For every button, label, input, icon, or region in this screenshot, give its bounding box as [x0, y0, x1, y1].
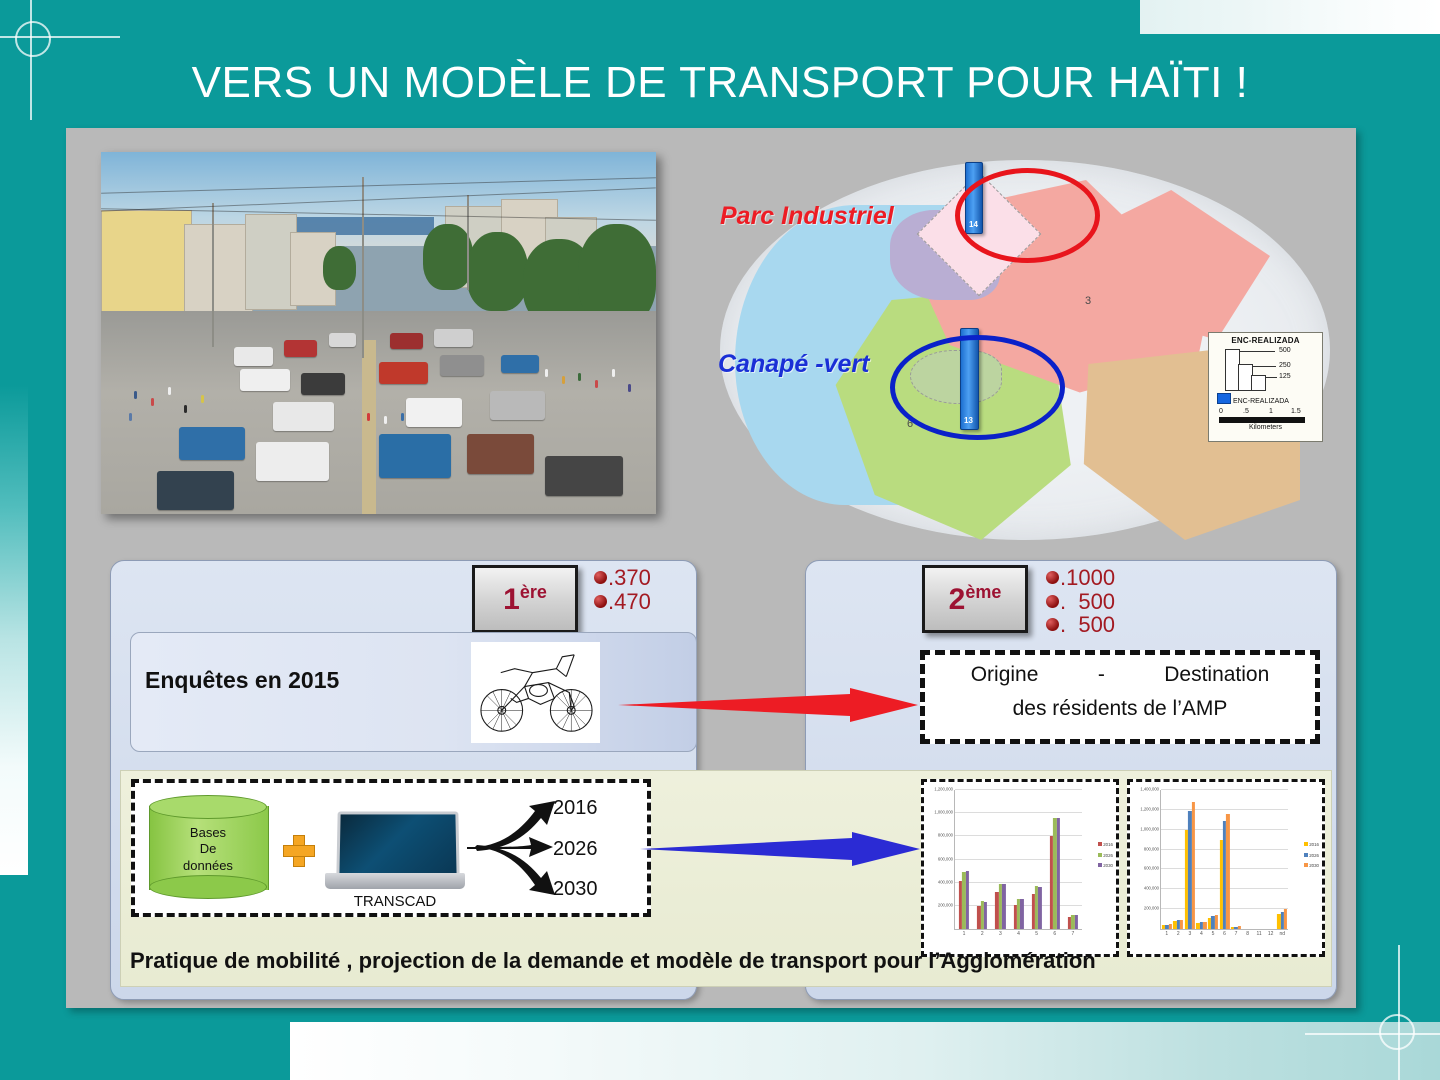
phase-2-bullet-1: .1000 — [1046, 566, 1115, 590]
y-axis-tick-label: 1,400,000 — [1140, 787, 1159, 792]
photo-pedestrian — [184, 405, 187, 413]
bar-group — [977, 790, 987, 929]
origin-destination-box: Origine - Destination des résidents de l… — [920, 650, 1320, 744]
photo-vehicle — [434, 329, 473, 347]
legend-swatch — [1304, 853, 1308, 857]
y-axis-tick-label: 200,000 — [938, 902, 953, 907]
bar — [1203, 922, 1206, 929]
red-arrow-icon — [618, 688, 918, 722]
chart-1-plot: 200,000400,000600,000800,0001,000,0001,2… — [954, 790, 1082, 930]
legend-label: 2016 — [1103, 842, 1113, 847]
od-origin-label: Origine — [971, 663, 1039, 687]
bar-group — [1173, 790, 1183, 929]
bar-group — [959, 790, 969, 929]
od-line-2: des résidents de l’AMP — [925, 697, 1315, 721]
photo-pedestrian — [612, 369, 615, 377]
bar — [1056, 818, 1059, 929]
photo-pedestrian — [401, 413, 404, 421]
legend-swatch — [1304, 842, 1308, 846]
top-right-gradient-accent — [1140, 0, 1440, 34]
x-axis-tick-label: 4 — [1017, 931, 1020, 937]
x-axis-tick-label: 5 — [1212, 931, 1215, 937]
legend-bar-small — [1251, 375, 1266, 391]
photo-vehicle — [329, 333, 357, 347]
bar-group — [1266, 790, 1276, 929]
x-axis-tick-label: 4 — [1200, 931, 1203, 937]
legend-value-125: 125 — [1279, 373, 1291, 380]
photo-median — [362, 340, 376, 514]
legend-entry: 2026 — [1304, 851, 1319, 861]
crosshair-circle-bottom-right — [1379, 1014, 1415, 1050]
x-axis-tick-label: 8 — [1246, 931, 1249, 937]
model-caption: Pratique de mobilité , projection de la … — [130, 948, 1330, 974]
database-label: Bases De données — [149, 825, 267, 874]
photo-vehicle — [406, 398, 462, 427]
legend-swatch — [1098, 842, 1102, 846]
legend-value-500: 500 — [1279, 347, 1291, 354]
photo-pedestrian — [201, 395, 204, 403]
photo-vehicle — [545, 456, 623, 496]
cylinder-top — [149, 795, 267, 819]
photo-vehicle — [273, 402, 334, 431]
x-axis-tick-label: 2 — [981, 931, 984, 937]
photo-vehicle — [379, 362, 429, 384]
survey-title: Enquêtes en 2015 — [145, 667, 339, 694]
bar-group — [1196, 790, 1206, 929]
x-axis-tick-label: 6 — [1223, 931, 1226, 937]
scale-tick-half: .5 — [1243, 408, 1249, 415]
bar-group — [1242, 790, 1252, 929]
phase-1-badge-text: 1ère — [503, 583, 547, 615]
map-legend: ENC-REALIZADA 500 250 125 ENC-REALIZADA … — [1208, 332, 1323, 442]
x-axis-tick-label: 3 — [1188, 931, 1191, 937]
laptop-icon: TRANSCAD — [325, 811, 465, 897]
bullet-dot-icon — [1046, 618, 1059, 631]
legend-series-label: ENC-REALIZADA — [1233, 398, 1289, 405]
legend-label: 2016 — [1309, 842, 1319, 847]
database-cylinder-icon: Bases De données — [149, 795, 267, 897]
y-axis-tick-label: 400,000 — [938, 879, 953, 884]
phase-2-bullet-2: . 500 — [1046, 590, 1115, 614]
x-axis-tick-label: 1 — [963, 931, 966, 937]
photo-tree — [323, 246, 356, 289]
photo-utility-pole — [212, 203, 214, 348]
scale-tick-1-5: 1.5 — [1291, 408, 1301, 415]
charts-group: 200,000400,000600,000800,0001,000,0001,2… — [921, 779, 1321, 951]
photo-pedestrian — [367, 413, 370, 421]
x-axis-tick-label: 2 — [1177, 931, 1180, 937]
legend-scale-bar — [1219, 417, 1305, 423]
bar — [1168, 924, 1171, 929]
bar-group — [1162, 790, 1172, 929]
bar-group — [1185, 790, 1195, 929]
bar-group — [1231, 790, 1241, 929]
x-axis-tick-label: 7 — [1235, 931, 1238, 937]
photo-pedestrian — [151, 398, 154, 406]
bullet-dot-icon — [1046, 595, 1059, 608]
scale-tick-0: 0 — [1219, 408, 1223, 415]
bar — [1284, 909, 1287, 929]
legend-entry: 2030 — [1304, 861, 1319, 871]
photo-vehicle — [501, 355, 540, 373]
y-axis-tick-label: 1,000,000 — [934, 810, 953, 815]
legend-color-swatch — [1217, 393, 1231, 404]
bar-group — [1050, 790, 1060, 929]
photo-utility-pole — [362, 177, 364, 358]
bar — [1215, 915, 1218, 929]
crosshair-circle-top-left — [15, 21, 51, 57]
chart-2-legend: 201620262030 — [1304, 840, 1319, 870]
survey-box: Enquêtes en 2015 — [130, 632, 697, 752]
laptop-base — [325, 873, 465, 889]
legend-series-row: ENC-REALIZADA — [1217, 393, 1322, 405]
x-axis-tick-label: 1 — [1165, 931, 1168, 937]
bar-group — [995, 790, 1005, 929]
y-axis-tick-label: 600,000 — [938, 856, 953, 861]
plus-icon — [283, 835, 313, 865]
highlight-ring-canape-vert — [890, 335, 1065, 440]
photo-pedestrian — [168, 387, 171, 395]
bar — [1020, 899, 1023, 929]
map-label-parc-industriel: Parc Industriel — [720, 202, 894, 231]
arrow-survey-to-od — [618, 688, 918, 722]
legend-title: ENC-REALIZADA — [1209, 336, 1322, 345]
phase-1-bullet-list: .370 .470 — [594, 566, 651, 613]
photo-pedestrian — [578, 373, 581, 381]
photo-pedestrian — [595, 380, 598, 388]
y-axis-tick-label: 200,000 — [1144, 906, 1159, 911]
photo-vehicle — [440, 355, 484, 377]
y-axis-tick-label: 1,200,000 — [934, 787, 953, 792]
photo-pedestrian — [129, 413, 132, 421]
map-zone-number-3: 3 — [1085, 295, 1091, 307]
phase-2-bullet-3: . 500 — [1046, 613, 1115, 637]
legend-swatch — [1098, 863, 1102, 867]
zone-map: 14 13 3 6 Parc Industriel Canapé -vert E… — [700, 150, 1350, 550]
photo-tree — [423, 224, 473, 289]
photo-pedestrian — [134, 391, 137, 399]
y-axis-tick-label: 400,000 — [1144, 886, 1159, 891]
bullet-dot-icon — [594, 595, 607, 608]
photo-vehicle — [284, 340, 317, 356]
database-line-3: données — [149, 858, 267, 874]
photo-vehicle — [240, 369, 290, 391]
projection-years: 2016 2026 2030 — [553, 797, 631, 901]
page-title: VERS UN MODÈLE DE TRANSPORT POUR HAÏTI ! — [0, 58, 1440, 108]
legend-entry: 2026 — [1098, 851, 1113, 861]
od-destination-label: Destination — [1164, 663, 1269, 687]
x-axis-tick-label: 7 — [1072, 931, 1075, 937]
phase-1-bullet-2: .470 — [594, 590, 651, 614]
legend-label: 2030 — [1103, 863, 1113, 868]
bar-group — [1219, 790, 1229, 929]
chart-1-legend: 201620262030 — [1098, 840, 1113, 870]
x-axis-tick-label: nd — [1279, 931, 1285, 937]
database-line-1: Bases — [149, 825, 267, 841]
year-2030: 2030 — [553, 878, 631, 901]
bar — [1238, 926, 1241, 929]
y-axis-tick-label: 800,000 — [938, 833, 953, 838]
motorcycle-icon — [471, 642, 600, 743]
legend-entry: 2030 — [1098, 861, 1113, 871]
bar — [1002, 884, 1005, 929]
chart-1: 200,000400,000600,000800,0001,000,0001,2… — [921, 779, 1119, 957]
software-label: TRANSCAD — [325, 893, 465, 910]
photo-pedestrian — [628, 384, 631, 392]
laptop-screen — [336, 812, 459, 880]
photo-pedestrian — [562, 376, 565, 384]
y-axis-tick-label: 1,000,000 — [1140, 826, 1159, 831]
od-dash: - — [1098, 663, 1105, 687]
blue-arrow-icon — [640, 832, 920, 866]
photo-vehicle — [256, 442, 328, 482]
legend-swatch — [1304, 863, 1308, 867]
x-axis-tick-label: 3 — [999, 931, 1002, 937]
legend-scale-ticks: 0 .5 1 1.5 — [1217, 408, 1322, 417]
chart-2-plot: 200,000400,000600,000800,0001,000,0001,2… — [1160, 790, 1288, 930]
bar — [966, 871, 969, 929]
phase-1-badge: 1ère — [472, 565, 578, 633]
bar — [1038, 887, 1041, 929]
photo-vehicle — [157, 471, 235, 511]
map-label-canape-vert: Canapé -vert — [718, 350, 869, 379]
legend-swatch — [1098, 853, 1102, 857]
legend-entry: 2016 — [1098, 840, 1113, 850]
phase-2-badge: 2ème — [922, 565, 1028, 633]
photo-pedestrian — [545, 369, 548, 377]
bottom-gradient-accent — [290, 1022, 1440, 1080]
bullet-dot-icon — [1046, 571, 1059, 584]
legend-label: 2030 — [1309, 863, 1319, 868]
legend-tick-125 — [1265, 377, 1277, 378]
bar — [1180, 920, 1183, 929]
od-line-1: Origine - Destination — [925, 663, 1315, 687]
motorcycle-drawing — [471, 642, 600, 743]
crosshair-vertical-bottom-right — [1398, 945, 1400, 1080]
bar — [984, 902, 987, 929]
chart-2: 200,000400,000600,000800,0001,000,0001,2… — [1127, 779, 1325, 957]
y-axis-tick-label: 800,000 — [1144, 846, 1159, 851]
photo-vehicle — [390, 333, 423, 349]
plus-horizontal — [283, 845, 315, 857]
phase-2-bullet-list: .1000 . 500 . 500 — [1046, 566, 1115, 637]
bar-group — [1032, 790, 1042, 929]
model-pipeline-box: Bases De données TRANSCAD 2016 2026 2030 — [131, 779, 651, 917]
legend-bars: 500 250 125 — [1225, 347, 1322, 391]
photo-vehicle — [179, 427, 246, 460]
photo-vehicle — [379, 434, 451, 477]
left-gradient-accent — [0, 385, 28, 875]
photo-pedestrian — [384, 416, 387, 424]
cylinder-bottom — [149, 875, 267, 899]
legend-value-250: 250 — [1279, 362, 1291, 369]
y-axis-tick-label: 1,200,000 — [1140, 806, 1159, 811]
x-axis-tick-label: 5 — [1035, 931, 1038, 937]
photo-tree — [467, 232, 528, 312]
legend-tick-500 — [1239, 351, 1275, 352]
bullet-dot-icon — [594, 571, 607, 584]
x-axis-tick-label: 12 — [1268, 931, 1274, 937]
year-2016: 2016 — [553, 797, 631, 820]
crosshair-horizontal-bottom-right — [1305, 1033, 1440, 1035]
legend-scale-unit: Kilometers — [1209, 424, 1322, 431]
bar-group — [1277, 790, 1287, 929]
database-line-2: De — [149, 841, 267, 857]
bar-group — [1208, 790, 1218, 929]
photo-vehicle — [301, 373, 345, 395]
legend-entry: 2016 — [1304, 840, 1319, 850]
bar — [1075, 915, 1078, 929]
highlight-ring-parc-industriel — [955, 168, 1100, 263]
bar — [1226, 814, 1229, 929]
bar-group — [1068, 790, 1078, 929]
legend-tick-250 — [1252, 366, 1276, 367]
photo-vehicle — [234, 347, 273, 365]
phase-2-badge-text: 2ème — [949, 583, 1002, 615]
legend-label: 2026 — [1309, 853, 1319, 858]
scale-tick-1: 1 — [1269, 408, 1273, 415]
photo-utility-pole — [467, 195, 469, 289]
phase-1-bullet-1: .370 — [594, 566, 651, 590]
y-axis-tick-label: 600,000 — [1144, 866, 1159, 871]
photo-vehicle — [490, 391, 546, 420]
year-2026: 2026 — [553, 838, 631, 861]
x-axis-tick-label: 6 — [1053, 931, 1056, 937]
bar — [1192, 802, 1195, 929]
bar-group — [1013, 790, 1023, 929]
traffic-photo — [101, 152, 656, 514]
bar-group — [1254, 790, 1264, 929]
photo-vehicle — [467, 434, 534, 474]
x-axis-tick-label: 11 — [1257, 931, 1262, 937]
legend-label: 2026 — [1103, 853, 1113, 858]
arrow-model-to-charts — [640, 832, 920, 866]
